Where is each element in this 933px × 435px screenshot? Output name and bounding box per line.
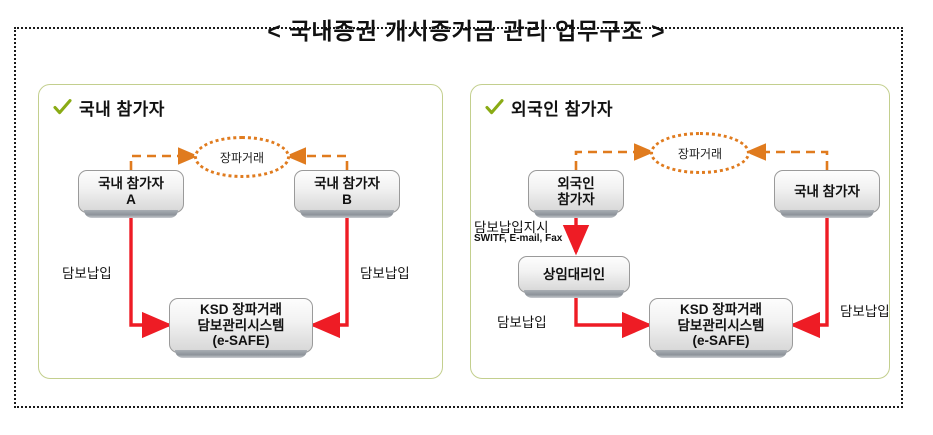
node-ksd-esafe-domestic[interactable]: KSD 장파거래 담보관리시스템 (e-SAFE) <box>169 298 313 353</box>
panel-domestic-title: 국내 참가자 <box>79 95 165 120</box>
node-line: 담보관리시스템 <box>678 318 765 334</box>
diagram-canvas: < 국내증권 개시증거금 관리 업무구조 > 국내 참가자 <box>0 0 933 435</box>
node-line: 담보관리시스템 <box>198 318 285 334</box>
panel-foreign-header: 외국인 참가자 <box>485 95 613 120</box>
ellipse-otc-trade-domestic: 장파거래 <box>194 136 290 178</box>
node-foreign-participant[interactable]: 외국인 참가자 <box>528 170 624 213</box>
label-collateral-payment-foreign-left: 담보납입 <box>497 311 547 331</box>
node-domestic-participant-b[interactable]: 국내 참가자 B <box>294 170 400 213</box>
node-standing-proxy[interactable]: 상임대리인 <box>518 256 630 293</box>
ellipse-label: 장파거래 <box>220 149 264 166</box>
node-line: 국내 참가자 <box>98 176 164 192</box>
node-ksd-esafe-foreign[interactable]: KSD 장파거래 담보관리시스템 (e-SAFE) <box>649 298 793 353</box>
node-line: (e-SAFE) <box>678 333 765 349</box>
ellipse-label: 장파거래 <box>678 145 722 162</box>
panel-foreign-title: 외국인 참가자 <box>511 95 613 120</box>
ellipse-otc-trade-foreign: 장파거래 <box>650 132 750 174</box>
node-domestic-participant-a[interactable]: 국내 참가자 A <box>78 170 184 213</box>
label-instruction-channels: SWITF, E-mail, Fax <box>474 233 562 244</box>
check-icon <box>485 98 504 117</box>
node-line: 국내 참가자 <box>794 184 860 200</box>
label-collateral-payment-right: 담보납입 <box>360 262 410 282</box>
node-line: B <box>314 192 380 208</box>
page-title: < 국내증권 개시증거금 관리 업무구조 > <box>0 12 933 46</box>
node-line: 상임대리인 <box>543 267 605 283</box>
label-collateral-payment-left: 담보납입 <box>62 262 112 282</box>
node-line: 참가자 <box>557 192 594 208</box>
node-line: KSD 장파거래 <box>678 302 765 318</box>
node-domestic-participant-foreign-panel[interactable]: 국내 참가자 <box>774 170 880 213</box>
label-collateral-payment-foreign-right: 담보납입 <box>840 300 890 320</box>
node-line: (e-SAFE) <box>198 333 285 349</box>
node-line: KSD 장파거래 <box>198 302 285 318</box>
panel-domestic-header: 국내 참가자 <box>53 95 165 120</box>
node-line: 국내 참가자 <box>314 176 380 192</box>
check-icon <box>53 98 72 117</box>
node-line: A <box>98 192 164 208</box>
node-line: 외국인 <box>557 176 594 192</box>
